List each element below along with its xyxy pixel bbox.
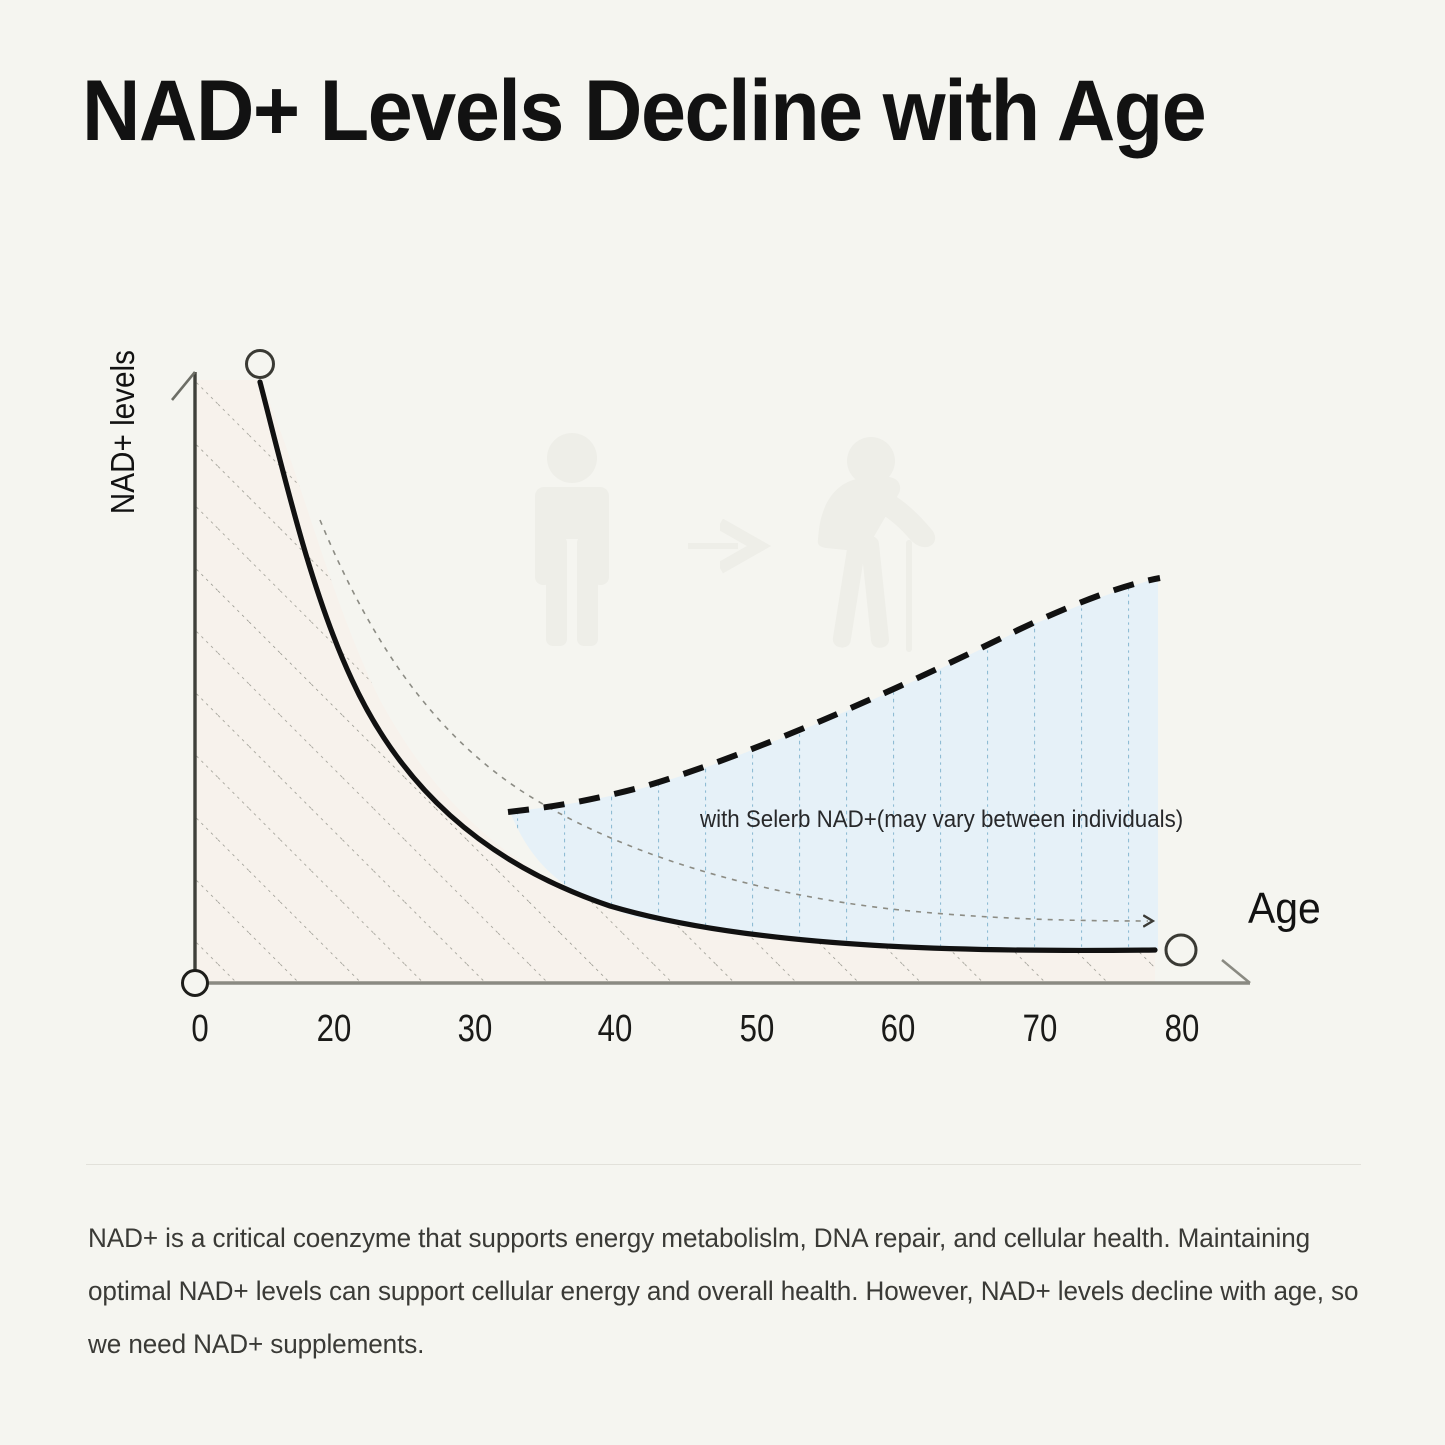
selerb-annotation: with Selerb NAD+(may vary between indivi… bbox=[700, 806, 1183, 834]
description-paragraph: NAD+ is a critical coenzyme that support… bbox=[88, 1212, 1359, 1371]
y-axis bbox=[172, 372, 195, 983]
origin-marker bbox=[183, 971, 208, 996]
y-axis-label-text: NAD+ levels bbox=[104, 350, 142, 566]
x-axis-label: Age bbox=[1248, 884, 1321, 934]
x-tick-60: 60 bbox=[881, 1008, 916, 1051]
x-tick-40: 40 bbox=[598, 1008, 633, 1051]
x-tick-30: 30 bbox=[458, 1008, 493, 1051]
end-marker bbox=[1166, 935, 1196, 965]
x-tick-70: 70 bbox=[1023, 1008, 1058, 1051]
peak-marker bbox=[247, 351, 274, 378]
x-tick-0: 0 bbox=[191, 1008, 208, 1051]
watermark-group bbox=[535, 433, 935, 652]
elderly-person-icon bbox=[818, 437, 935, 652]
section-divider bbox=[86, 1164, 1361, 1165]
infographic-page: NAD+ Levels Decline with Age bbox=[0, 0, 1445, 1445]
x-tick-80: 80 bbox=[1165, 1008, 1200, 1051]
young-person-icon bbox=[535, 433, 609, 646]
y-axis-label: NAD+ levels bbox=[104, 110, 142, 350]
x-tick-50: 50 bbox=[740, 1008, 775, 1051]
x-tick-20: 20 bbox=[317, 1008, 352, 1051]
